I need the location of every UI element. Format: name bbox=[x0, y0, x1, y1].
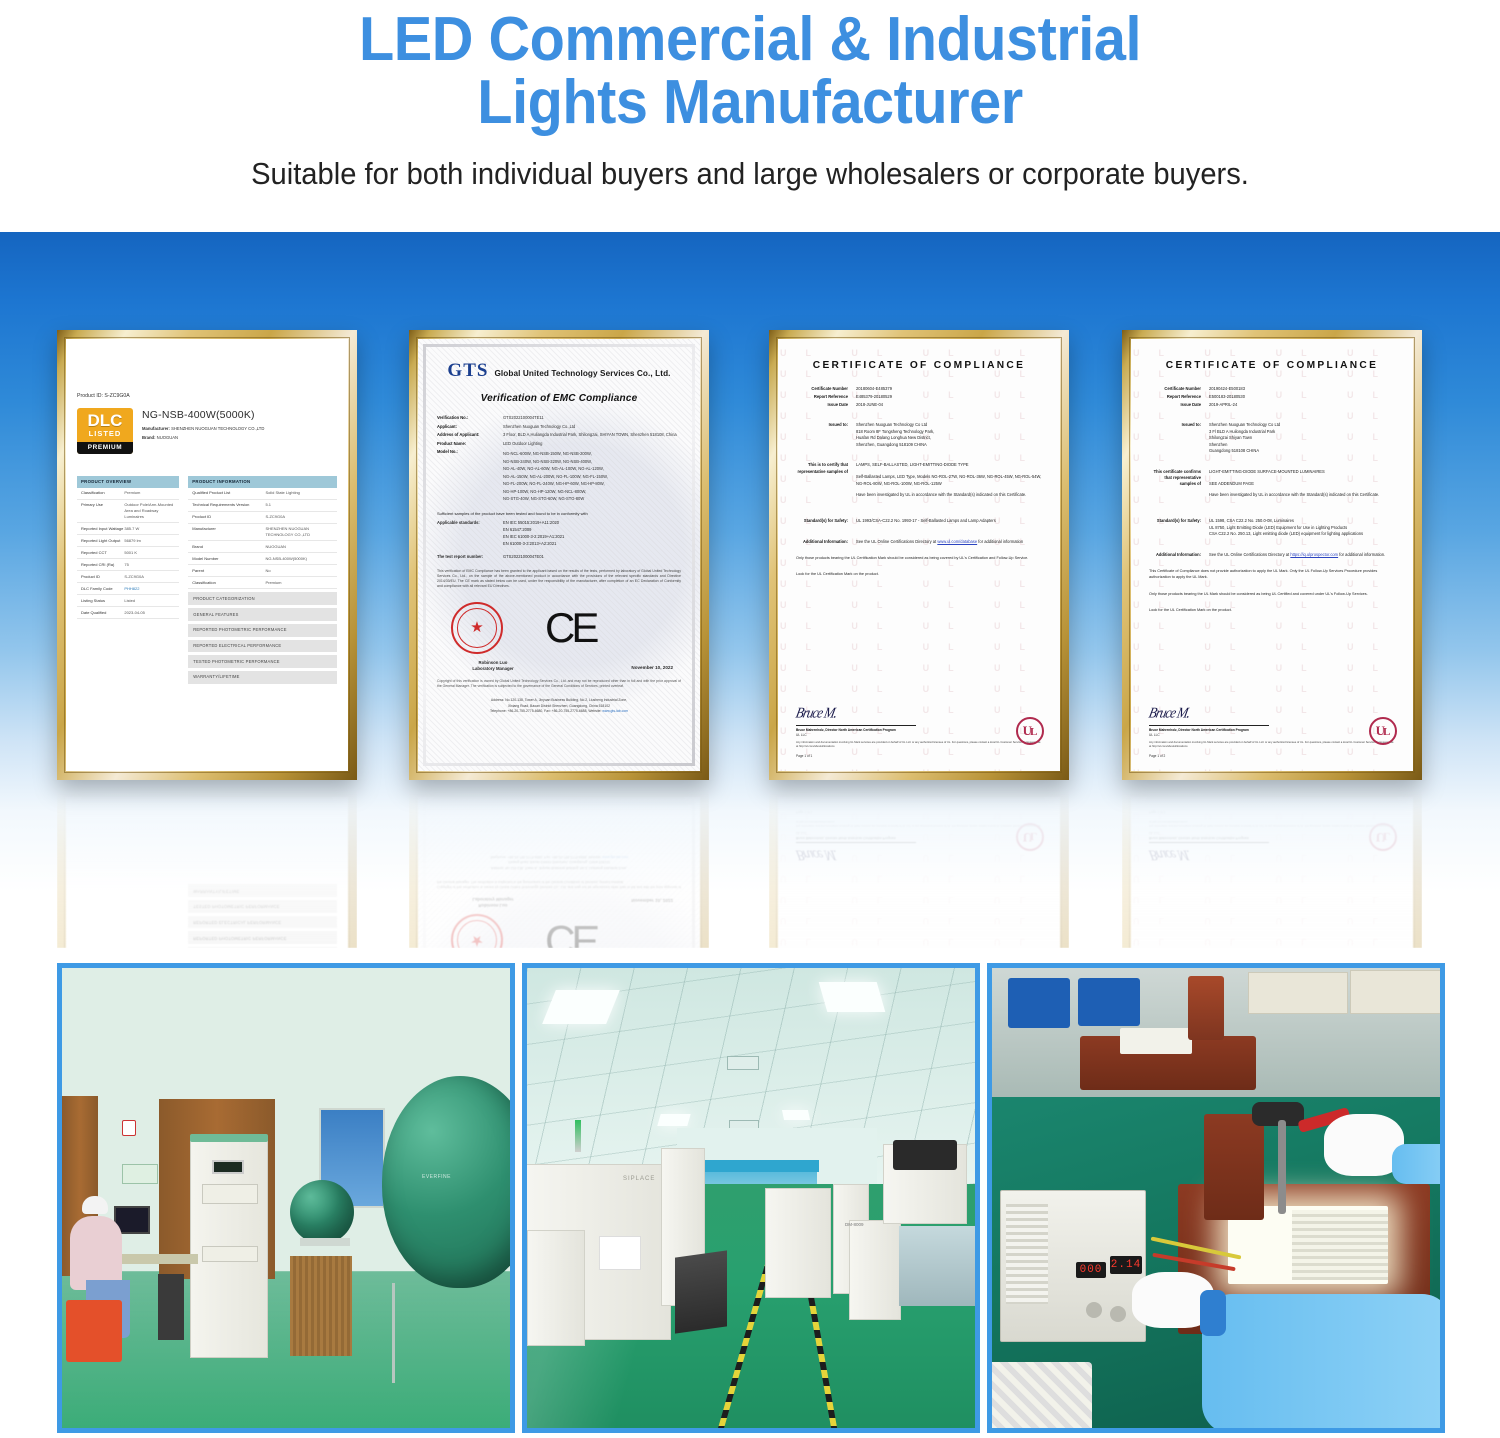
ul-logo-icon: UL bbox=[1369, 823, 1397, 851]
gts-standards-value: EN IEC 55015:2019+A11:2020EN 61547:2009E… bbox=[503, 520, 564, 549]
certificate-reflection-copy: GTS Global United Technology Services Co… bbox=[409, 788, 709, 948]
ul1-certify: This is to certify that representative s… bbox=[796, 462, 1042, 504]
photo1-stool bbox=[66, 1300, 122, 1362]
dlc-overview-row: ClassificationPremium bbox=[77, 488, 179, 500]
ul2-paragraph: Look for the UL Certification Mark on th… bbox=[1149, 607, 1395, 613]
dlc-info-key: Classification bbox=[192, 580, 265, 586]
dlc-overview-key: DLC Family Code bbox=[81, 586, 124, 592]
gts-report-row: The test report number: GTS20221000047E0… bbox=[437, 554, 681, 560]
ul1-safety-value: UL 1993/CSA-C22.2 No. 1993-17 - Self-Bal… bbox=[856, 518, 996, 525]
photo2-machine-reflow bbox=[765, 1188, 831, 1298]
certificate-frame-ul-1[interactable]: UL UL UL UL UL UL UL UL UL UL UL UL UL U… bbox=[769, 330, 1069, 780]
photo-lab-integrating-sphere[interactable]: EVERFINE bbox=[57, 963, 515, 1433]
ul2-additional-label: Additional Information: bbox=[1149, 552, 1209, 559]
dlc-overview-row: Listing StatusListed bbox=[77, 595, 179, 607]
photo2-window-blind bbox=[703, 1160, 819, 1172]
dlc-overview-title: PRODUCT OVERVIEW bbox=[77, 476, 179, 488]
ul1-meta-label: Issue Date bbox=[796, 402, 856, 408]
dlc-accordion-row[interactable]: REPORTED PHOTOMETRIC PERFORMANCE bbox=[188, 624, 337, 637]
dlc-overview-value: Premium bbox=[124, 490, 175, 496]
ce-mark-icon: CE bbox=[545, 607, 595, 649]
ul1-page-number: Page 1 of 1 bbox=[796, 754, 1042, 759]
factory-photos: EVERFINE bbox=[0, 960, 1500, 1438]
dlc-info-value: SHENZHEN NUOGUAN TECHNOLOGY CO.,LTD bbox=[265, 526, 333, 538]
certificate-frame-ul-2[interactable]: UL UL UL UL UL UL UL UL UL UL UL UL UL U… bbox=[1122, 330, 1422, 780]
ul1-directory-link[interactable]: www.ul.com/database bbox=[937, 539, 977, 544]
dlc-manufacturer-value: SHENZHEN NUOGUAN TECHNOLOGY CO.,LTD bbox=[171, 426, 264, 431]
ul1-safety: Standard(s) for Safety: UL 1993/CSA-C22.… bbox=[796, 518, 1042, 525]
dlc-accordion-row[interactable]: REPORTED ELECTRICAL PERFORMANCE bbox=[188, 916, 337, 929]
photo-led-board-test[interactable]: 000 2.14 bbox=[987, 963, 1445, 1433]
ul2-footnote: Any information and documentation involv… bbox=[1149, 819, 1395, 827]
photo2-trolley bbox=[675, 1250, 727, 1333]
gts-marks-row: ★ CE bbox=[437, 914, 681, 948]
ul1-paragraphs: Only those products bearing the UL Certi… bbox=[796, 555, 1042, 577]
photo2-tower-light-icon bbox=[575, 1120, 581, 1152]
dlc-accordion-row[interactable]: REPORTED PHOTOMETRIC PERFORMANCE bbox=[188, 931, 337, 944]
dlc-info-row: BrandNUOGUAN bbox=[188, 541, 337, 553]
dlc-brand-value: NUOGUAN bbox=[157, 435, 178, 440]
ul1-additional-value: See the UL Online Certifications Directo… bbox=[856, 539, 1023, 546]
dlc-manufacturer: Manufacturer: SHENZHEN NUOGUAN TECHNOLOG… bbox=[142, 426, 264, 432]
ul2-issued-to-label: Issued to: bbox=[1149, 422, 1209, 455]
certificate-gts: GTS Global United Technology Services Co… bbox=[418, 797, 700, 948]
dlc-overview-row: DLC Family CodePHH822 bbox=[77, 583, 179, 595]
photo2-light-panel-4 bbox=[782, 1110, 810, 1120]
ul1-paragraph: Look for the UL Certification Mark on th… bbox=[796, 571, 1042, 577]
ul1-meta-label: Certificate Number bbox=[796, 386, 856, 392]
dlc-overview-value: S-ZC9G0A bbox=[124, 574, 175, 580]
ul2-meta-value: 20190424-E500183 bbox=[1209, 386, 1245, 392]
ul2-additional-value: See the UL Online Certifications Directo… bbox=[1209, 552, 1385, 559]
dlc-accordion-row[interactable]: PRODUCT CATEGORIZATION bbox=[188, 592, 337, 605]
ul2-paragraphs: This Certificate of Compliance does not … bbox=[1149, 568, 1395, 612]
dlc-manufacturer-label: Manufacturer: bbox=[142, 426, 170, 431]
gts-website-link[interactable]: www.gts-lab.com bbox=[602, 709, 628, 713]
ul2-issued-line: 3 Fl BLD A Huilongda Industrial Park bbox=[1209, 429, 1280, 436]
photo2-machine-right-2 bbox=[849, 1220, 901, 1320]
dlc-overview-row: Reported CCT5001 K bbox=[77, 547, 179, 559]
ul2-safety-line: CSA C22.2 No. 250.13, Light emitting dio… bbox=[1209, 531, 1363, 538]
dlc-info-row: Qualified Product ListSolid State Lighti… bbox=[188, 488, 337, 500]
dlc-overview-value: 56879 lm bbox=[124, 538, 175, 544]
ul2-page-number: Page 1 of 2 bbox=[1149, 809, 1395, 814]
reflection-body: Product ID: S-ZC9G0A DLC LISTED PREMIUM … bbox=[57, 788, 357, 948]
ul2-issued-to-value: Shenzhen Nuoguan Technology Co Ltd3 Fl B… bbox=[1209, 422, 1280, 455]
gts-signer-role: Laboratory Manager bbox=[445, 666, 541, 672]
ul1-meta: Certificate Number20180604-E485379Report… bbox=[796, 386, 1042, 408]
photo2-air-vent-icon bbox=[727, 1056, 759, 1070]
dlc-tables: PRODUCT OVERVIEW ClassificationPremiumPr… bbox=[77, 476, 337, 684]
dlc-overview-key: Reported CRI (Ra) bbox=[81, 562, 124, 568]
gts-report-label: The test report number: bbox=[437, 554, 503, 560]
certificate-frame-gts[interactable]: GTS Global United Technology Services Co… bbox=[409, 330, 709, 780]
photo2-light-panel-3 bbox=[657, 1114, 690, 1126]
photo3-psu-vents bbox=[1006, 1204, 1048, 1304]
dlc-model-name: NG-NSB-400W(5000K) bbox=[142, 408, 264, 423]
dlc-overview-key: Reported Input Wattage bbox=[81, 526, 124, 532]
certificate-reflection-copy: UL UL UL UL UL UL UL UL UL UL UL UL UL U… bbox=[769, 788, 1069, 948]
ul1-paper: UL UL UL UL UL UL UL UL UL UL UL UL UL U… bbox=[778, 797, 1060, 948]
gts-field-value: 3 Floor, BLD A,Huliangda Industrial Park… bbox=[503, 432, 677, 438]
ul2-issued-line: Shenzhen Nuoguan Technology Co Ltd bbox=[1209, 422, 1280, 429]
ul1-issued-to: Issued to: Shenzhen Nuoguan Technology C… bbox=[796, 422, 1042, 449]
dlc-overview-value: Listed bbox=[124, 598, 175, 604]
photo1-no-smoking-sign-icon bbox=[122, 1120, 136, 1136]
gts-standards-row: Applicable standards: EN IEC 55015:2019+… bbox=[437, 520, 681, 549]
dlc-accordion-row[interactable]: TESTED PHOTOMETRIC PERFORMANCE bbox=[188, 655, 337, 668]
dlc-overview-value: 385.7 W bbox=[124, 526, 175, 532]
photo1-rack-display bbox=[212, 1160, 244, 1174]
ul1-additional-post: for additional information bbox=[978, 539, 1023, 544]
dlc-brand: Brand: NUOGUAN bbox=[142, 435, 264, 441]
dlc-badge-listed: LISTED bbox=[89, 430, 122, 438]
page-title: LED Commercial & Industrial Lights Manuf… bbox=[53, 8, 1448, 134]
gts-models-row: Model No.: NG-NCL-600W, NG-NSB-150W, NG-… bbox=[437, 449, 681, 504]
photo3-fixture-back-plate bbox=[1120, 1028, 1192, 1054]
dlc-header-row: DLC LISTED PREMIUM NG-NSB-400W(5000K) Ma… bbox=[77, 408, 337, 454]
reflection-body: UL UL UL UL UL UL UL UL UL UL UL UL UL U… bbox=[769, 788, 1069, 948]
photo1-operator-cap-icon bbox=[82, 1196, 108, 1214]
ul1-additional: Additional Information: See the UL Onlin… bbox=[796, 539, 1042, 546]
photo1-sphere-mount bbox=[300, 1238, 350, 1246]
ul2-additional: Additional Information: See the UL Onlin… bbox=[1149, 552, 1395, 559]
certificate-reflection-4: UL UL UL UL UL UL UL UL UL UL UL UL UL U… bbox=[1122, 788, 1422, 948]
dlc-overview-row: Product IDS-ZC9G0A bbox=[77, 571, 179, 583]
dlc-info-row: ParentNo bbox=[188, 565, 337, 577]
photo2-machine-right-label: DM-8009 bbox=[845, 1222, 864, 1227]
photo3-psu-display-left: 000 bbox=[1076, 1262, 1106, 1278]
gts-field-label: Verification No.: bbox=[437, 415, 503, 421]
gts-red-stamp-icon: ★ bbox=[451, 914, 503, 948]
photo1-rack-panel-2 bbox=[202, 1246, 258, 1262]
page-subtitle: Suitable for both individual buyers and … bbox=[45, 156, 1455, 192]
ul2-safety-label: Standard(s) for Safety: bbox=[1149, 518, 1209, 538]
ul2-meta-value: E500183-20180530 bbox=[1209, 394, 1245, 400]
ul2-safety-line: UL 1598, CSA C22.2 No. 250.0-08, Luminai… bbox=[1209, 518, 1363, 525]
dlc-info-value: S-ZC9G0A bbox=[265, 514, 333, 520]
gts-model-line: NG-HP-100W, NG-HP-120W, NG-NCL-800W, bbox=[503, 489, 608, 495]
dlc-info-value: NUOGUAN bbox=[265, 544, 333, 550]
ul1-meta-row: Certificate Number20180604-E485379 bbox=[796, 386, 1042, 392]
ul-logo-l: L bbox=[1030, 725, 1037, 741]
dlc-info-row: Technical Requirements Version5.1 bbox=[188, 500, 337, 512]
certificate-dlc: Product ID: S-ZC9G0A DLC LISTED PREMIUM … bbox=[66, 339, 348, 771]
gts-logo: GTS bbox=[447, 357, 488, 385]
gts-signature-row: Robinson Luo Laboratory Manager November… bbox=[437, 896, 681, 908]
dlc-accordion-row[interactable]: GENERAL FEATURES bbox=[188, 608, 337, 621]
ul1-certify-line: Have been investigated by UL in accordan… bbox=[856, 492, 1042, 499]
certificate-frame-dlc[interactable]: Product ID: S-ZC9G0A DLC LISTED PREMIUM … bbox=[57, 330, 357, 780]
photo3-clamp-arm bbox=[1278, 1120, 1286, 1214]
dlc-info-value: No bbox=[265, 568, 333, 574]
dlc-overview-table: PRODUCT OVERVIEW ClassificationPremiumPr… bbox=[77, 884, 179, 948]
ul2-issued-line: Shilongzai Shiyan Town bbox=[1209, 435, 1280, 442]
ul2-additional-post: for additional information. bbox=[1339, 552, 1385, 557]
photo1-wood-cabinet bbox=[290, 1256, 352, 1356]
gts-standards-label: Applicable standards: bbox=[437, 520, 503, 549]
photo3-wrist-band bbox=[1200, 1290, 1226, 1336]
ul1-meta-row: Issue Date2018-JUNE-04 bbox=[796, 402, 1042, 408]
gts-address-line: Telephone: +86-20-755-2775-6680, Fax: +8… bbox=[437, 853, 681, 858]
ul2-issued-line: Guangdong 518108 CHINA bbox=[1209, 448, 1280, 455]
dlc-accordion-row[interactable]: WARRANTY/LIFETIME bbox=[188, 671, 337, 684]
ul-logo-l: L bbox=[1383, 725, 1390, 741]
ul2-footer: Bruce M. Bruce Mahrenholz, Director Nort… bbox=[1149, 809, 1395, 864]
gts-marks-row: ★ CE bbox=[437, 602, 681, 654]
ul1-signature-role: UL LLC bbox=[796, 733, 1042, 738]
ul1-footnote: Any information and documentation involv… bbox=[796, 819, 1042, 827]
dlc-overview-table: PRODUCT OVERVIEW ClassificationPremiumPr… bbox=[77, 476, 179, 684]
photo2-machine-label-sheet bbox=[599, 1236, 641, 1270]
dlc-product-id: Product ID: S-ZC9G0A bbox=[77, 393, 337, 401]
ul2-safety: Standard(s) for Safety: UL 1598, CSA C22… bbox=[1149, 518, 1395, 538]
ul1-paper: UL UL UL UL UL UL UL UL UL UL UL UL UL U… bbox=[778, 339, 1060, 771]
photo1-canvas: EVERFINE bbox=[62, 968, 510, 1428]
gts-field-row: Verification No.:GTS2022100004TE11 bbox=[437, 415, 681, 421]
photo3-psu-display-right: 2.14 bbox=[1110, 1256, 1142, 1274]
ul1-signature-name: Bruce Mahrenholz, Director North America… bbox=[796, 725, 916, 733]
photo1-pc-tower bbox=[158, 1274, 184, 1340]
ul2-meta-row: Issue Date2019-APRIL-24 bbox=[1149, 402, 1395, 408]
gts-field-label: Product Name: bbox=[437, 441, 503, 447]
gts-copyright: Copyright of this verification is owned … bbox=[437, 879, 681, 889]
photo1-desk bbox=[122, 1254, 198, 1264]
dlc-model-block: NG-NSB-400W(5000K) Manufacturer: SHENZHE… bbox=[142, 408, 264, 441]
gts-field-value: LED Outdoor Lighting bbox=[503, 441, 542, 447]
dlc-tables: PRODUCT OVERVIEW ClassificationPremiumPr… bbox=[77, 884, 337, 948]
gts-address: Address: No.120-138, Tower A, Jinyuan Bu… bbox=[437, 853, 681, 869]
ul2-paragraph: This Certificate of Compliance does not … bbox=[1149, 568, 1395, 580]
dlc-overview-row: Primary UseOutdoor Pole/Arm-Mounted Area… bbox=[77, 500, 179, 524]
dlc-listed-badge-icon: DLC LISTED PREMIUM bbox=[77, 408, 133, 454]
ul1-title: CERTIFICATE OF COMPLIANCE bbox=[796, 359, 1042, 374]
dlc-info-value: NG-NSB-400W(5000K) bbox=[265, 556, 333, 562]
gts-address-line: Xixiang Road, Baoan District Shenzhen, G… bbox=[437, 859, 681, 864]
certificate-reflection-1: Product ID: S-ZC9G0A DLC LISTED PREMIUM … bbox=[57, 788, 357, 948]
gts-paper: GTS Global United Technology Services Co… bbox=[418, 797, 700, 948]
ul1-safety-label: Standard(s) for Safety: bbox=[796, 518, 856, 525]
ul1-footer: Bruce M. Bruce Mahrenholz, Director Nort… bbox=[796, 809, 1042, 864]
photo2-machine-2 bbox=[527, 1230, 585, 1346]
gts-model-line: NG-STG-40W, NG-STG-60W, NG-STG-80W bbox=[503, 496, 608, 502]
dlc-overview-value: 2023-04-05 bbox=[124, 610, 175, 616]
gts-date: November 10, 2022 bbox=[631, 665, 673, 672]
ul1-meta-value: 2018-JUNE-04 bbox=[856, 402, 883, 408]
ul2-page-number: Page 1 of 2 bbox=[1149, 754, 1395, 759]
dlc-info-value: Solid State Lighting bbox=[265, 490, 333, 496]
certificate-ul-2: UL UL UL UL UL UL UL UL UL UL UL UL UL U… bbox=[1131, 339, 1413, 771]
ul2-certify-label: This certificate confirms that represent… bbox=[1149, 469, 1209, 504]
dlc-info-row: Product IDS-ZC9G0A bbox=[188, 512, 337, 524]
ul-logo-l: L bbox=[1030, 827, 1037, 843]
certificate-reflection-copy: UL UL UL UL UL UL UL UL UL UL UL UL UL U… bbox=[1122, 788, 1422, 948]
ul1-additional-pre: See the UL Online Certifications Directo… bbox=[856, 539, 937, 544]
gts-paragraph: This verification of EMC Compliance has … bbox=[437, 569, 681, 590]
gts-field-label: Address of Applicant: bbox=[437, 432, 503, 438]
ul2-paragraph: Only those products bearing the UL Mark … bbox=[1149, 591, 1395, 597]
dlc-overview-value: 75 bbox=[124, 562, 175, 568]
dlc-overview-row: Reported CRI (Ra)75 bbox=[77, 559, 179, 571]
ul-logo-icon: UL bbox=[1016, 717, 1044, 745]
ul2-safety-value: UL 1598, CSA C22.2 No. 250.0-08, Luminai… bbox=[1209, 518, 1363, 538]
ul2-footnote: Any information and documentation involv… bbox=[1149, 741, 1395, 749]
photo3-carton-1 bbox=[1248, 972, 1348, 1014]
gts-model-line: NG-FL-200W, NG-FL-240W, NG-HP-60W, NG-HP… bbox=[503, 481, 608, 487]
ul2-meta-label: Issue Date bbox=[1149, 402, 1209, 408]
photo3-fixture-back-post bbox=[1188, 976, 1224, 1040]
dlc-overview-value: 5001 K bbox=[124, 550, 175, 556]
dlc-overview-row: Date Qualified2023-04-05 bbox=[77, 607, 179, 619]
gts-address: Address: No.120-138, Tower A, Jinyuan Bu… bbox=[437, 698, 681, 714]
reflection-body: GTS Global United Technology Services Co… bbox=[409, 788, 709, 948]
gts-field-value: Shenzhen Nuoguan Technology Co.,Ltd bbox=[503, 424, 575, 430]
dlc-overview-key: Reported Light Output bbox=[81, 538, 124, 544]
gts-website-link[interactable]: www.gts-lab.com bbox=[602, 855, 628, 859]
ul1-issued-to-label: Issued to: bbox=[796, 422, 856, 449]
gts-copyright: Copyright of this verification is owned … bbox=[437, 679, 681, 689]
ul2-meta-label: Report Reference bbox=[1149, 394, 1209, 400]
dlc-overview-value: Outdoor Pole/Arm-Mounted Area and Roadwa… bbox=[124, 502, 175, 519]
dlc-info-row: ManufacturerSHENZHEN NUOGUAN TECHNOLOGY … bbox=[188, 524, 337, 542]
certificate-ul-2: UL UL UL UL UL UL UL UL UL UL UL UL UL U… bbox=[1131, 797, 1413, 948]
dlc-accordion-row[interactable]: REPORTED ELECTRICAL PERFORMANCE bbox=[188, 640, 337, 653]
ce-mark-icon: CE bbox=[545, 919, 595, 948]
dlc-overview-key: Classification bbox=[81, 490, 124, 496]
photo3-carton-2 bbox=[1350, 970, 1445, 1014]
dlc-overview-key: Reported CCT bbox=[81, 550, 124, 556]
photo3-psu-knob-1 bbox=[1086, 1302, 1102, 1318]
dlc-overview-key: Primary Use bbox=[81, 502, 124, 519]
certificate-reflection-3: UL UL UL UL UL UL UL UL UL UL UL UL UL U… bbox=[769, 788, 1069, 948]
gts-standard-line: EN IEC 61000-3-2:2019+A1:2021 bbox=[503, 534, 564, 540]
gts-field-row: Address of Applicant:3 Floor, BLD A,Huli… bbox=[437, 432, 681, 438]
ul1-paragraph: Only those products bearing the UL Certi… bbox=[796, 555, 1042, 561]
ul2-certify-line: SEE ADDENDUM PAGE bbox=[1209, 481, 1379, 488]
dlc-overview-row: Reported Input Wattage385.7 W bbox=[77, 523, 179, 535]
dlc-brand-label: Brand: bbox=[142, 435, 156, 440]
gts-models-label: Model No.: bbox=[437, 449, 503, 504]
gts-stamp-star-icon: ★ bbox=[470, 620, 483, 635]
photo2-canvas: SIPLACE DM-8009 bbox=[527, 968, 975, 1428]
dlc-info-key: Model Number bbox=[192, 556, 265, 562]
dlc-document: Product ID: S-ZC9G0A DLC LISTED PREMIUM … bbox=[66, 884, 348, 948]
photo3-canvas: 000 2.14 bbox=[992, 968, 1440, 1428]
gts-date: November 10, 2022 bbox=[631, 896, 673, 903]
gts-report-value: GTS20221000047E01 bbox=[503, 554, 544, 560]
gts-field-row: Applicant:Shenzhen Nuoguan Technology Co… bbox=[437, 424, 681, 430]
photo3-psu-knob-2 bbox=[1110, 1306, 1126, 1322]
gts-field-value: GTS2022100004TE11 bbox=[503, 415, 544, 421]
gts-company-name: Global United Technology Services Co., L… bbox=[494, 368, 670, 380]
ul2-signature-name: Bruce Mahrenholz, Director North America… bbox=[1149, 835, 1269, 843]
ul2-paper: UL UL UL UL UL UL UL UL UL UL UL UL UL U… bbox=[1131, 339, 1413, 771]
ul2-meta: Certificate Number20190424-E500183Report… bbox=[1149, 386, 1395, 408]
page-title-line2: Lights Manufacturer bbox=[53, 71, 1448, 134]
dlc-overview-value[interactable]: PHH822 bbox=[124, 586, 175, 592]
ul1-meta-label: Report Reference bbox=[796, 394, 856, 400]
dlc-info-row: ClassificationPremium bbox=[188, 577, 337, 589]
gts-signer: Robinson Luo Laboratory Manager bbox=[445, 660, 541, 672]
dlc-document: Product ID: S-ZC9G0A DLC LISTED PREMIUM … bbox=[66, 339, 348, 684]
gts-signature-row: Robinson Luo Laboratory Manager November… bbox=[437, 660, 681, 672]
ul1-page-number: Page 1 of 1 bbox=[796, 809, 1042, 814]
ul1-certify-line: Self-Ballasted Lamps, LED Type, Models N… bbox=[856, 474, 1042, 487]
ul1-certify-value: LAMPS, SELF-BALLASTED, LIGHT-EMITTING-DI… bbox=[856, 462, 1042, 504]
dlc-overview-key: Product ID bbox=[81, 574, 124, 580]
photo2-printer-head-icon bbox=[893, 1140, 957, 1170]
ul2-footer: Bruce M. Bruce Mahrenholz, Director Nort… bbox=[1149, 704, 1395, 759]
gts-address-line: Address: No.120-138, Tower A, Jinyuan Bu… bbox=[437, 864, 681, 869]
ul1-issued-line: 818 Room 8F Tongsheng Technology Park, bbox=[856, 429, 934, 436]
photo1-operator-body bbox=[70, 1216, 122, 1290]
dlc-accordion-row[interactable]: TESTED PHOTOMETRIC PERFORMANCE bbox=[188, 900, 337, 913]
ul1-meta-value: E485379-20180529 bbox=[856, 394, 892, 400]
gts-stamp-star-icon: ★ bbox=[470, 933, 483, 948]
gts-standard-line: EN 61000-3-3:2013+A2:2021 bbox=[503, 541, 564, 547]
photo3-sleeve-lower bbox=[1202, 1294, 1445, 1433]
gts-standard-line: EN 61547:2009 bbox=[503, 527, 564, 533]
gts-signer: Robinson Luo Laboratory Manager bbox=[445, 896, 541, 908]
ul2-meta-row: Certificate Number20190424-E500183 bbox=[1149, 386, 1395, 392]
dlc-info-title: PRODUCT INFORMATION bbox=[188, 476, 337, 488]
dlc-accordion-row[interactable]: GENERAL FEATURES bbox=[188, 947, 337, 948]
dlc-info-value: 5.1 bbox=[265, 502, 333, 508]
gts-model-line: NG-AL-40W, NG-AL-60W, NG-AL-100W, NG-AL-… bbox=[503, 466, 608, 472]
gts-red-stamp-icon: ★ bbox=[451, 602, 503, 654]
photo1-wall-sign bbox=[122, 1164, 158, 1184]
ul1-footer: Bruce M. Bruce Mahrenholz, Director Nort… bbox=[796, 704, 1042, 759]
photo3-blue-bin-2 bbox=[1078, 978, 1140, 1026]
photo2-machine-brand-label: SIPLACE bbox=[623, 1176, 655, 1182]
gts-signer-role: Laboratory Manager bbox=[445, 896, 541, 902]
ul1-meta-value: 20180604-E485379 bbox=[856, 386, 892, 392]
ul2-signature-icon: Bruce M. bbox=[1147, 703, 1398, 725]
ul2-certify-value: LIGHT-EMITTING-DIODE SURFACE-MOUNTED LUM… bbox=[1209, 469, 1379, 504]
dlc-info-key: Technical Requirements Version bbox=[192, 502, 265, 508]
page-header: LED Commercial & Industrial Lights Manuf… bbox=[0, 0, 1500, 232]
certificate-ul-1: UL UL UL UL UL UL UL UL UL UL UL UL UL U… bbox=[778, 797, 1060, 948]
ul2-issued-to: Issued to: Shenzhen Nuoguan Technology C… bbox=[1149, 422, 1395, 455]
dlc-info-key: Qualified Product List bbox=[192, 490, 265, 496]
ul1-safety-line: UL 1993/CSA-C22.2 No. 1993-17 - Self-Bal… bbox=[856, 518, 996, 525]
ul2-signature-role: UL LLC bbox=[1149, 733, 1395, 738]
ul2-safety-line: UL 8750, Light Emitting Diode (LED) Equi… bbox=[1209, 525, 1363, 532]
photo3-sleeve-upper bbox=[1392, 1144, 1445, 1184]
ul1-certify-line: LAMPS, SELF-BALLASTED, LIGHT-EMITTING-DI… bbox=[856, 462, 1042, 469]
ul-logo-l: L bbox=[1383, 827, 1390, 843]
ul2-additional-pre: See the UL Online Certifications Directo… bbox=[1209, 552, 1290, 557]
ul2-meta-label: Certificate Number bbox=[1149, 386, 1209, 392]
ul-logo-icon: UL bbox=[1369, 717, 1397, 745]
photo-smt-workshop[interactable]: SIPLACE DM-8009 bbox=[522, 963, 980, 1433]
photo3-foam-packaging bbox=[988, 1362, 1092, 1433]
certificates-stage: Product ID: S-ZC9G0A DLC LISTED PREMIUM … bbox=[0, 232, 1500, 954]
gts-field-label: Applicant: bbox=[437, 424, 503, 430]
ul1-signature-icon: Bruce M. bbox=[794, 703, 1045, 725]
photo2-workbench bbox=[899, 1226, 980, 1306]
dlc-info-table: PRODUCT INFORMATION Qualified Product Li… bbox=[188, 476, 337, 684]
gts-standard-line: EN IEC 55015:2019+A11:2020 bbox=[503, 520, 564, 526]
gts-content: GTS Global United Technology Services Co… bbox=[427, 845, 691, 948]
certificate-ul-1: UL UL UL UL UL UL UL UL UL UL UL UL UL U… bbox=[778, 339, 1060, 771]
ul1-signature-icon: Bruce M. bbox=[794, 844, 1045, 866]
ul2-certify-line: Have been investigated by UL in accordan… bbox=[1209, 492, 1379, 499]
ul2-title: CERTIFICATE OF COMPLIANCE bbox=[1149, 359, 1395, 374]
photo1-sphere-stand bbox=[392, 1283, 515, 1383]
ul2-directory-link[interactable]: https://iq.ulprospector.com bbox=[1290, 552, 1338, 557]
dlc-accordion-row[interactable]: WARRANTY/LIFETIME bbox=[188, 884, 337, 897]
